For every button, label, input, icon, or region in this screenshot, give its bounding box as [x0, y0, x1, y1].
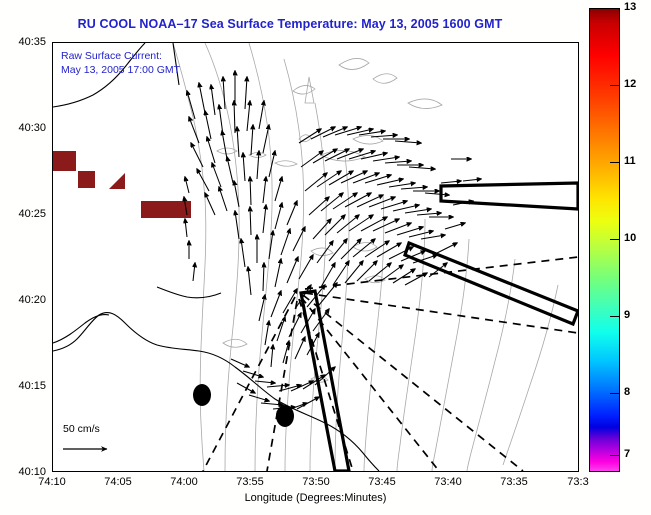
xtick-label: 74:10 [25, 476, 79, 488]
colorbar-tick-label: 8 [624, 386, 630, 398]
colorbar-tick-label: 9 [624, 309, 630, 321]
colorbar-tick-label: 11 [624, 155, 636, 167]
xtick-label: 73:50 [289, 476, 343, 488]
xtick-label: 74:05 [91, 476, 145, 488]
station-marker[interactable] [193, 384, 294, 427]
velocity-scale-legend: 50 cm/s [55, 423, 165, 467]
colorbar-tick-mark [610, 455, 620, 456]
figure-title: RU COOL NOAA–17 Sea Surface Temperature:… [0, 17, 580, 31]
velocity-scale-label: 50 cm/s [63, 423, 100, 435]
colorbar-tick-mark [610, 316, 620, 317]
colorbar-tick-mark [610, 8, 620, 9]
xtick-label: 73:45 [355, 476, 409, 488]
colorbar-tick-mark [610, 393, 620, 394]
current-annotation: Raw Surface Current: May 13, 2005 17:00 … [61, 49, 180, 77]
map-graphics [53, 43, 578, 471]
xtick-label: 73:55 [223, 476, 277, 488]
colorbar-tick-label: 13 [624, 1, 636, 13]
colorbar-tick-mark [610, 239, 620, 240]
coastline [53, 43, 379, 471]
ytick-label: 40:20 [0, 294, 46, 306]
current-annotation-line2: May 13, 2005 17:00 GMT [61, 63, 180, 77]
sst-patch [53, 151, 191, 218]
xtick-label: 74:00 [157, 476, 211, 488]
figure-canvas: RU COOL NOAA–17 Sea Surface Temperature:… [0, 0, 651, 515]
colorbar-tick-mark [610, 162, 620, 163]
xtick-label: 73:40 [421, 476, 475, 488]
ytick-label: 40:30 [0, 122, 46, 134]
colorbar-tick-label: 12 [624, 78, 636, 90]
ytick-label: 40:15 [0, 380, 46, 392]
current-annotation-line1: Raw Surface Current: [61, 49, 180, 63]
x-axis-label: Longitude (Degrees:Minutes) [52, 492, 579, 504]
colorbar-tick-mark [610, 85, 620, 86]
colorbar [589, 8, 620, 472]
map-plot-area[interactable]: Raw Surface Current: May 13, 2005 17:00 … [52, 42, 579, 472]
xtick-label: 73:35 [487, 476, 541, 488]
ytick-label: 40:25 [0, 208, 46, 220]
current-vector-field [184, 71, 481, 411]
colorbar-tick-label: 10 [624, 232, 636, 244]
colorbar-tick-label: 7 [624, 448, 630, 460]
ytick-label: 40:35 [0, 36, 46, 48]
xtick-label: 73:3 [551, 476, 605, 488]
